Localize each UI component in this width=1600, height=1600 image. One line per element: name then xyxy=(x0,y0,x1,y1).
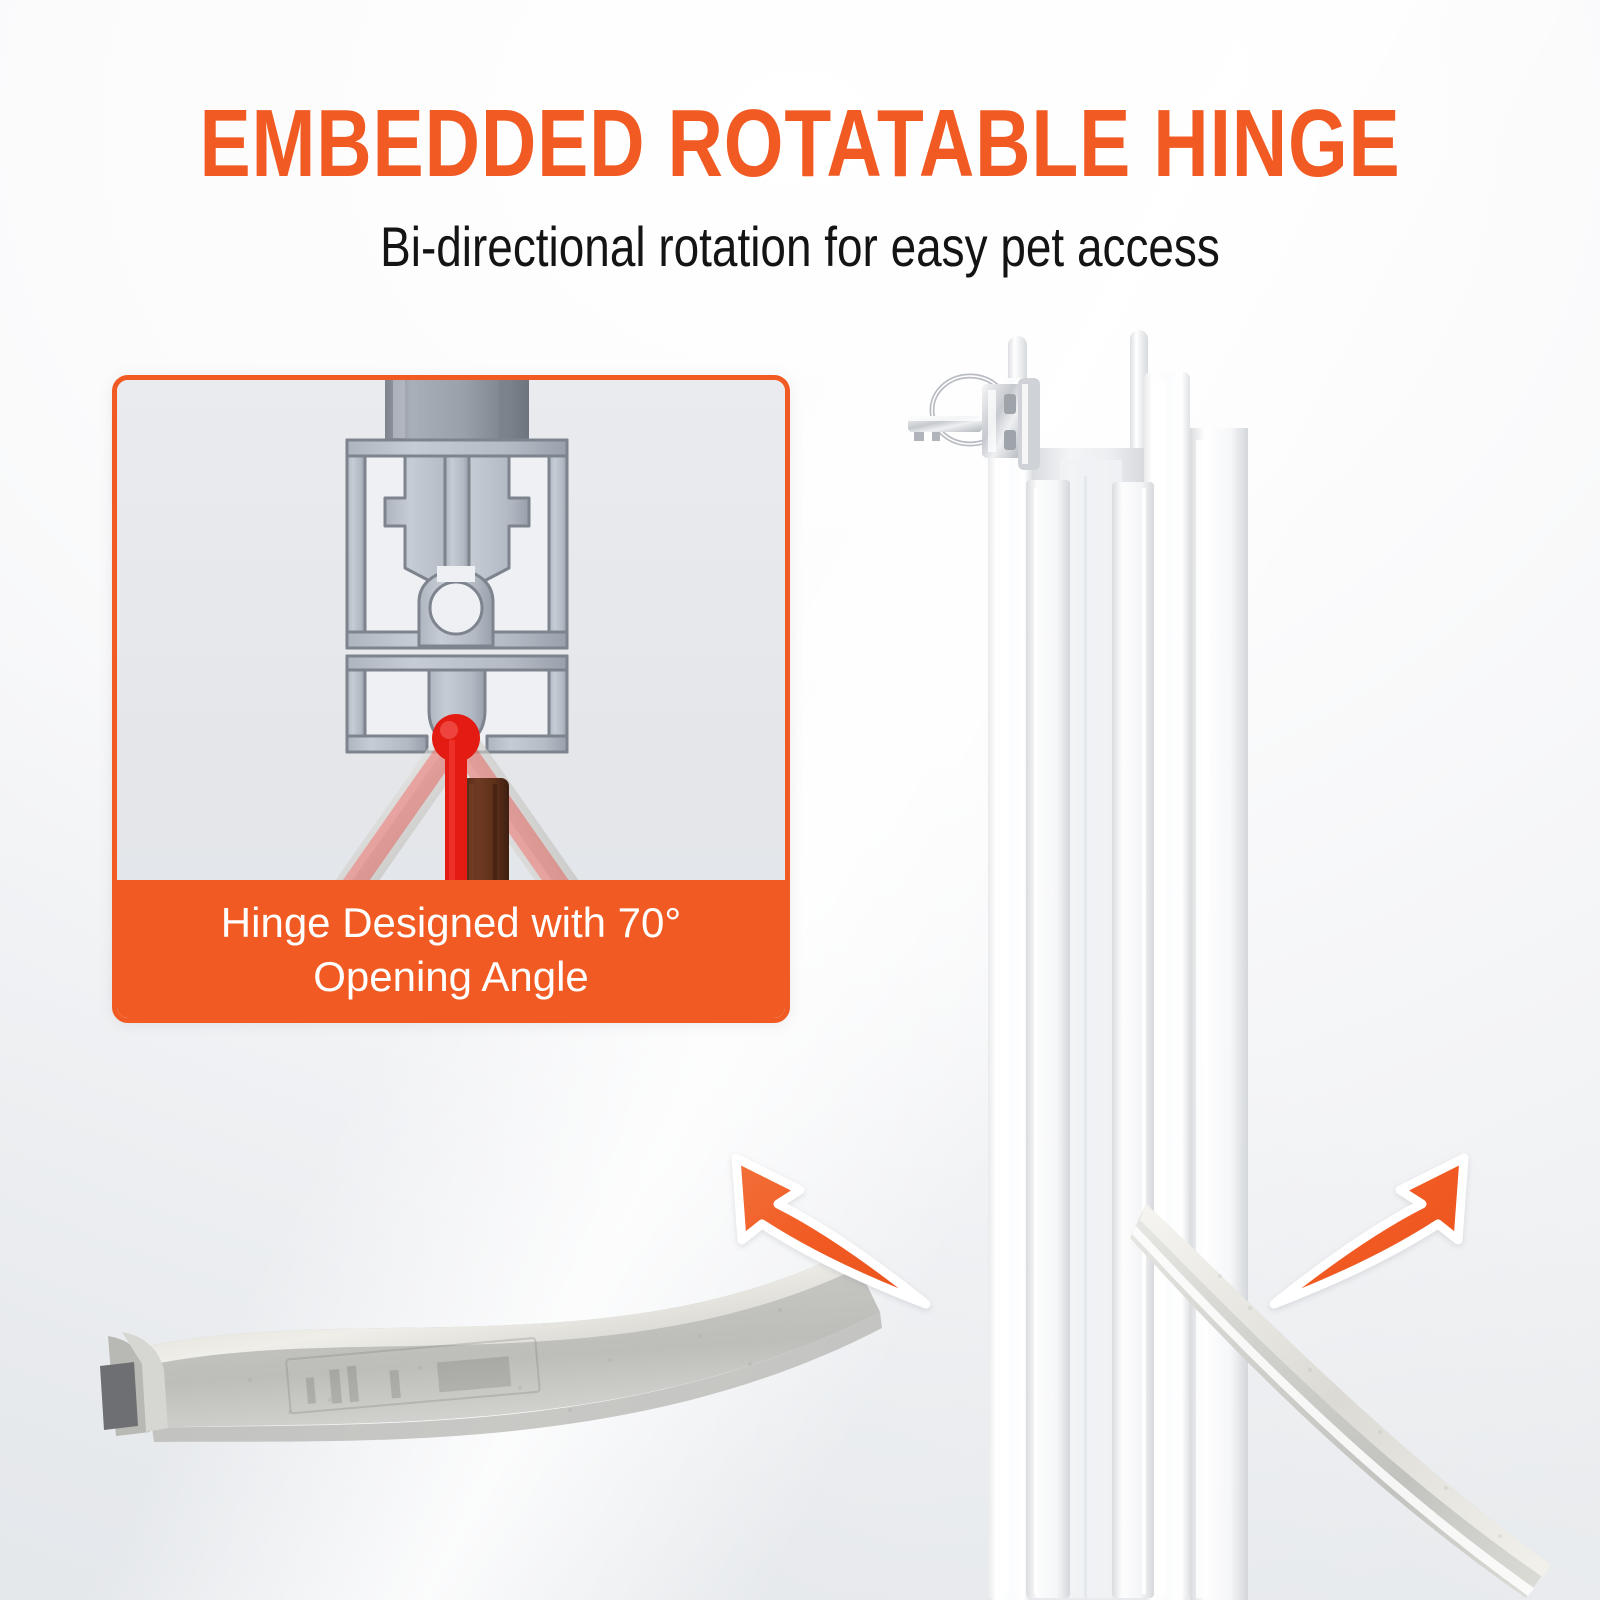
hinge-top-cap xyxy=(385,380,529,440)
key-lock-cylinder xyxy=(908,376,1040,470)
hinge-c-clip xyxy=(419,566,493,646)
arrow-right-shape xyxy=(1274,1158,1464,1304)
marketing-image-canvas: EMBEDDED ROTATABLE HINGE Bi-directional … xyxy=(0,0,1600,1600)
rotation-arrow-right xyxy=(1250,1128,1510,1323)
flap-left-tip xyxy=(100,1362,138,1430)
frame-stop-left xyxy=(1026,480,1070,1598)
lock-escutcheon xyxy=(1018,378,1040,470)
caption-line-2: Opening Angle xyxy=(313,951,589,1003)
rotation-arrow-left xyxy=(690,1128,950,1323)
hinge-caption-bar: Hinge Designed with 70° Opening Angle xyxy=(116,880,786,1019)
caption-line-1: Hinge Designed with 70° xyxy=(221,897,681,949)
hinge-detail-panel: Hinge Designed with 70° Opening Angle xyxy=(112,375,790,1023)
arrow-left-shape xyxy=(736,1158,926,1304)
frame-rail-left xyxy=(988,378,1032,1600)
page-title: EMBEDDED ROTATABLE HINGE xyxy=(160,94,1440,194)
page-subtitle: Bi-directional rotation for easy pet acc… xyxy=(144,216,1456,278)
